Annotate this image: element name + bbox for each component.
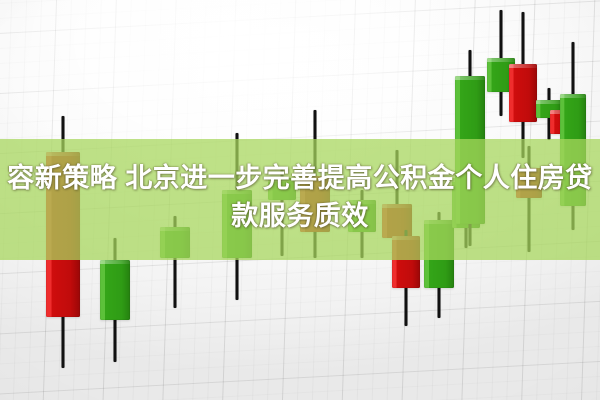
candle-13: [509, 12, 537, 158]
candle-3: [222, 133, 252, 300]
candle-11: [455, 50, 485, 246]
candle-body-highlight-14: [516, 168, 542, 172]
candle-4: [268, 168, 296, 256]
candle-body-5: [300, 176, 330, 232]
candle-body-highlight-3: [222, 190, 252, 194]
candle-body-9: [424, 220, 454, 288]
chart-background-image: 容新策略 北京进一步完善提高公积金个人住房贷 款服务质效: [0, 0, 600, 400]
candle-body-highlight-6: [348, 200, 376, 204]
candle-body-0: [46, 152, 80, 317]
candle-body-highlight-8: [392, 236, 420, 240]
candle-9: [424, 212, 454, 318]
candle-body-highlight-0: [46, 152, 80, 156]
candle-14: [516, 146, 542, 252]
candle-body-highlight-5: [300, 176, 330, 180]
candle-body-3: [222, 190, 252, 258]
candle-body-highlight-1: [100, 260, 130, 264]
candlestick-chart: [0, 0, 600, 400]
candle-wick-14: [528, 146, 531, 252]
candle-body-1: [100, 260, 130, 320]
candle-2: [160, 216, 190, 308]
candle-body-6: [348, 200, 376, 232]
candle-body-13: [509, 64, 537, 122]
candle-body-highlight-11: [455, 76, 485, 80]
candle-0: [46, 116, 80, 368]
candle-body-highlight-17: [560, 94, 586, 98]
candle-body-highlight-4: [268, 178, 296, 182]
candle-17: [560, 42, 586, 230]
candle-body-2: [160, 227, 190, 258]
candle-6: [348, 190, 376, 258]
candle-body-highlight-7: [382, 204, 412, 208]
candle-1: [100, 238, 130, 362]
candle-body-17: [560, 94, 586, 206]
candle-body-highlight-13: [509, 64, 537, 68]
candle-body-14: [516, 168, 542, 198]
candle-8: [392, 230, 420, 326]
candle-5: [300, 110, 330, 258]
candle-body-highlight-9: [424, 220, 454, 224]
candle-body-4: [268, 178, 296, 200]
candle-body-highlight-2: [160, 227, 190, 231]
candle-body-8: [392, 236, 420, 288]
candle-body-11: [455, 76, 485, 224]
